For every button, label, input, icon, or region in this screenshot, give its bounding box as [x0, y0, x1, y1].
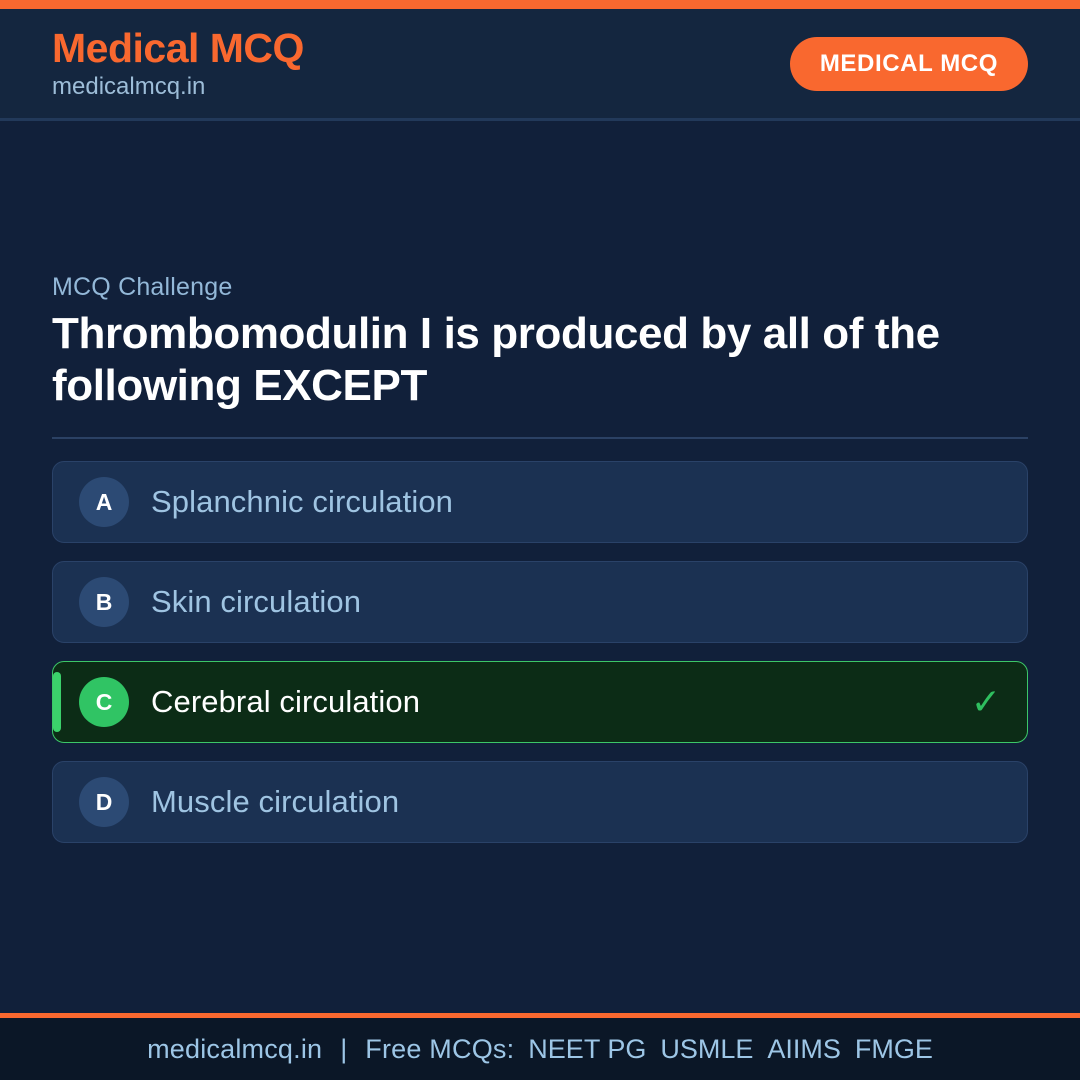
option-text: Muscle circulation: [151, 784, 987, 820]
footer-tag-0: NEET PG: [528, 1034, 646, 1065]
brand-block: Medical MCQ medicalmcq.in: [52, 27, 304, 100]
header: Medical MCQ medicalmcq.in MEDICAL MCQ: [0, 9, 1080, 121]
option-c[interactable]: CCerebral circulation✓: [52, 661, 1028, 743]
option-d[interactable]: DMuscle circulation: [52, 761, 1028, 843]
footer-separator: |: [340, 1034, 347, 1065]
option-b[interactable]: BSkin circulation: [52, 561, 1028, 643]
main-content: MCQ Challenge Thrombomodulin I is produc…: [0, 121, 1080, 1013]
option-letter-badge: C: [79, 677, 129, 727]
footer-tag-2: AIIMS: [767, 1034, 841, 1065]
brand-title: Medical MCQ: [52, 27, 304, 70]
eyebrow-label: MCQ Challenge: [52, 273, 1028, 302]
footer-label: Free MCQs:: [365, 1034, 514, 1065]
header-badge: MEDICAL MCQ: [790, 37, 1028, 91]
option-letter-badge: A: [79, 477, 129, 527]
question-divider: [52, 437, 1028, 439]
mcq-card: Medical MCQ medicalmcq.in MEDICAL MCQ MC…: [0, 0, 1080, 1080]
option-text: Cerebral circulation: [151, 684, 957, 720]
options-list: ASplanchnic circulationBSkin circulation…: [52, 461, 1028, 843]
correct-check-icon: ✓: [971, 684, 1001, 720]
option-text: Splanchnic circulation: [151, 484, 987, 520]
question-text: Thrombomodulin I is produced by all of t…: [52, 308, 1028, 412]
correct-accent-bar: [53, 672, 61, 732]
footer-site[interactable]: medicalmcq.in: [147, 1034, 322, 1065]
option-text: Skin circulation: [151, 584, 987, 620]
footer: medicalmcq.in | Free MCQs: NEET PG USMLE…: [0, 1013, 1080, 1080]
footer-tag-1: USMLE: [660, 1034, 753, 1065]
footer-tag-3: FMGE: [855, 1034, 933, 1065]
brand-subtitle: medicalmcq.in: [52, 74, 304, 100]
option-letter-badge: D: [79, 777, 129, 827]
top-accent-bar: [0, 0, 1080, 9]
option-a[interactable]: ASplanchnic circulation: [52, 461, 1028, 543]
option-letter-badge: B: [79, 577, 129, 627]
